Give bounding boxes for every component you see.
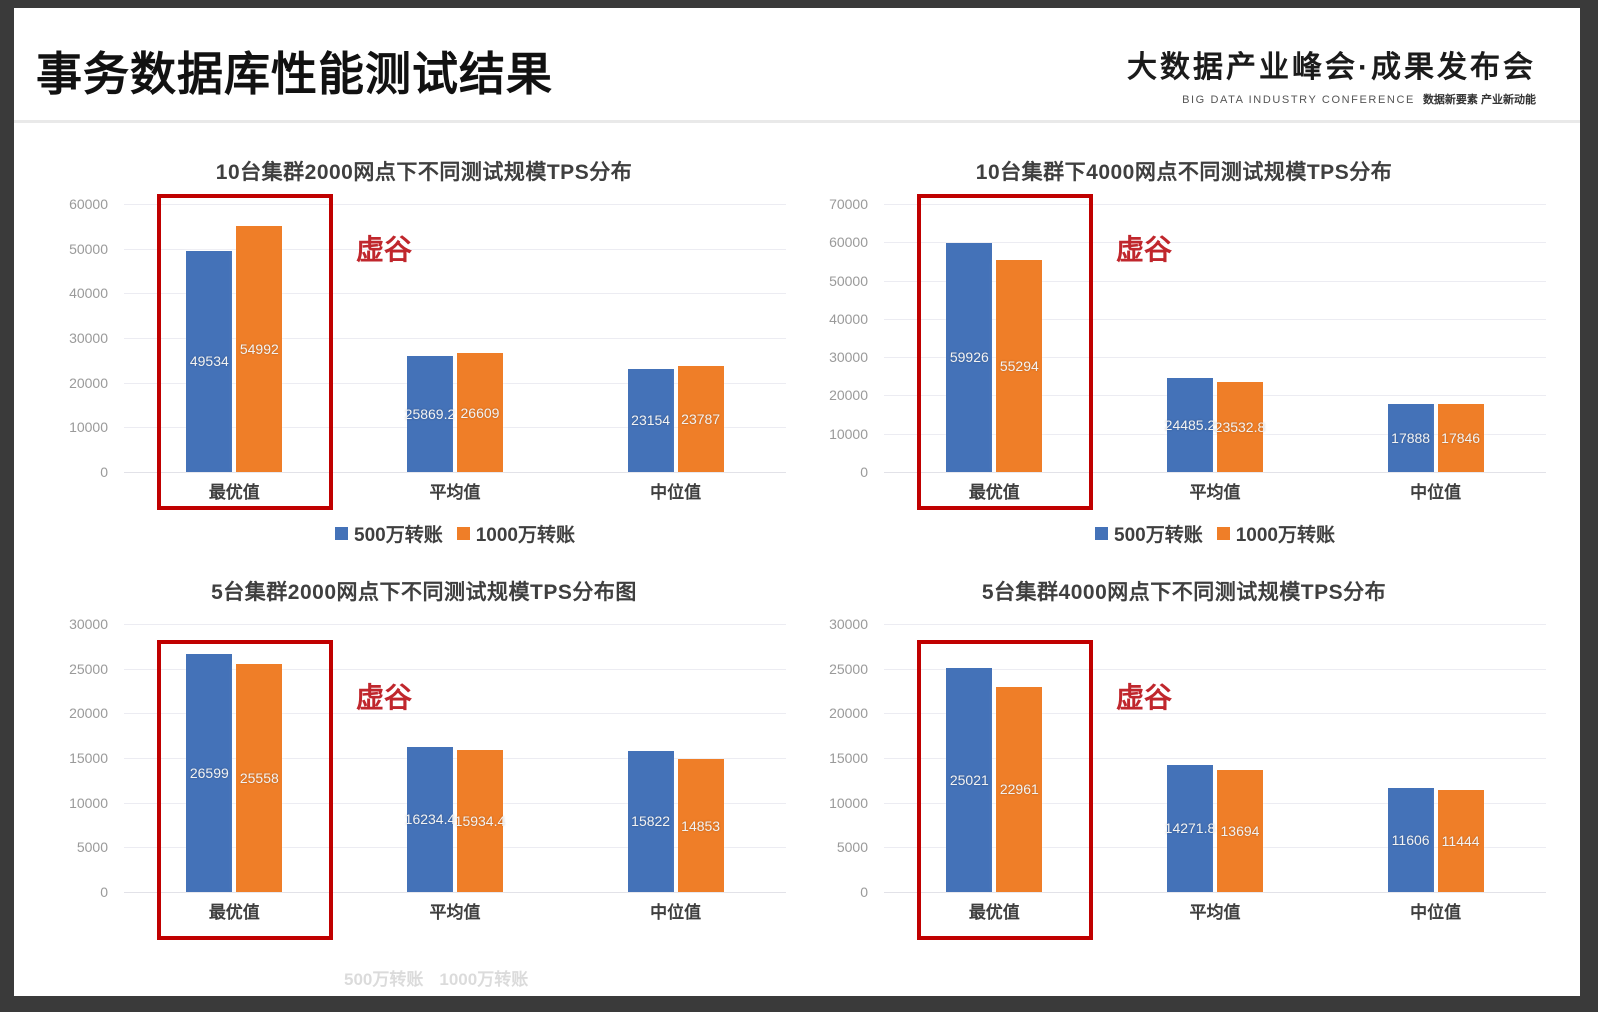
y-axis-tick: 25000	[829, 661, 868, 677]
conference-tagline: BIG DATA INDUSTRY CONFERENCE数据新要素 产业新动能	[1127, 91, 1536, 107]
x-axis-label: 平均值	[1106, 478, 1324, 503]
slide-header: 事务数据库性能测试结果 大数据产业峰会·成果发布会 BIG DATA INDUS…	[14, 8, 1580, 123]
bar-orange[interactable]: 15934.4	[457, 750, 503, 892]
y-axis: 300002500020000150001000050000	[804, 624, 876, 892]
chart-legend: 500万转账 1000万转账	[124, 520, 786, 547]
x-axis-label: 最优值	[885, 478, 1103, 503]
legend-label-orange: 1000万转账	[476, 520, 575, 547]
y-axis-tick: 30000	[69, 330, 108, 346]
chart-5node-2000: 5台集群2000网点下不同测试规模TPS分布图 3000025000200001…	[44, 570, 804, 990]
legend-label-orange: 1000万转账	[1236, 520, 1335, 547]
bar-orange[interactable]: 22961	[996, 687, 1042, 892]
bar-group: 2315423787	[566, 204, 784, 472]
bar-value-label: 23154	[631, 412, 670, 428]
plot-area: 300002500020000150001000050000 265992555…	[44, 624, 804, 924]
chart-title: 10台集群下4000网点不同测试规模TPS分布	[804, 156, 1564, 186]
conference-tagline-en: BIG DATA INDUSTRY CONFERENCE	[1182, 94, 1415, 106]
x-axis-label: 最优值	[125, 898, 343, 923]
y-axis-tick: 20000	[829, 387, 868, 403]
legend-label-blue: 500万转账	[354, 520, 443, 547]
legend-item-orange: 1000万转账	[457, 520, 575, 547]
y-axis-tick: 30000	[829, 616, 868, 632]
bar-value-label: 54992	[240, 341, 279, 357]
y-axis-tick: 40000	[69, 285, 108, 301]
bar-groups: 265992555816234.415934.41582214853	[124, 624, 786, 892]
annotation-label: 虚谷	[356, 228, 412, 268]
x-axis-label: 中位值	[1326, 898, 1544, 923]
y-axis-tick: 30000	[69, 616, 108, 632]
bar-value-label: 25558	[240, 770, 279, 786]
y-axis-tick: 50000	[829, 273, 868, 289]
y-axis-tick: 0	[860, 884, 868, 900]
bar-value-label: 26599	[190, 765, 229, 781]
y-axis-tick: 60000	[69, 196, 108, 212]
bar-blue[interactable]: 25021	[946, 668, 992, 892]
y-axis-tick: 60000	[829, 234, 868, 250]
bar-value-label: 15822	[631, 813, 670, 829]
y-axis-tick: 10000	[829, 795, 868, 811]
bar-blue[interactable]: 59926	[946, 243, 992, 472]
x-axis-label: 平均值	[1106, 898, 1324, 923]
annotation-label: 虚谷	[1116, 676, 1172, 716]
x-axis-label: 最优值	[885, 898, 1103, 923]
x-axis-categories: 最优值平均值中位值	[884, 478, 1546, 503]
annotation-label: 虚谷	[356, 676, 412, 716]
plot-area: 300002500020000150001000050000 250212296…	[804, 624, 1564, 924]
bar-blue[interactable]: 15822	[628, 751, 674, 892]
bar-value-label: 23787	[681, 411, 720, 427]
conference-tagline-cn: 数据新要素 产业新动能	[1423, 94, 1536, 106]
chart-legend: 500万转账 1000万转账	[884, 520, 1546, 547]
bar-value-label: 25021	[950, 772, 989, 788]
bar-blue[interactable]: 14271.8	[1167, 765, 1213, 892]
y-axis-tick: 20000	[829, 705, 868, 721]
bar-value-label: 59926	[950, 349, 989, 365]
bar-blue[interactable]: 26599	[186, 654, 232, 892]
x-axis-label: 最优值	[125, 478, 343, 503]
gridline	[884, 892, 1546, 893]
bar-value-label: 11606	[1392, 832, 1430, 848]
bar-orange[interactable]: 23532.8	[1217, 382, 1263, 472]
x-axis-categories: 最优值平均值中位值	[124, 898, 786, 923]
y-axis-tick: 50000	[69, 241, 108, 257]
y-axis-tick: 5000	[837, 839, 868, 855]
plot-area: 6000050000400003000020000100000 49534549…	[44, 204, 804, 504]
y-axis-tick: 10000	[829, 426, 868, 442]
bar-orange[interactable]: 17846	[1438, 404, 1484, 472]
bar-group: 16234.415934.4	[346, 624, 564, 892]
conference-name: 大数据产业峰会·成果发布会	[1127, 42, 1536, 86]
bar-value-label: 55294	[1000, 358, 1039, 374]
y-axis-tick: 0	[100, 464, 108, 480]
legend-label-blue: 500万转账	[1114, 520, 1203, 547]
annotation-label: 虚谷	[1116, 228, 1172, 268]
bar-blue[interactable]: 25869.2	[407, 356, 453, 472]
legend-swatch-orange-icon	[457, 527, 470, 540]
page-title: 事务数据库性能测试结果	[36, 38, 553, 104]
bar-value-label: 26609	[461, 405, 500, 421]
legend-swatch-blue-icon	[335, 527, 348, 540]
bar-value-label: 17888	[1391, 430, 1430, 446]
bar-value-label: 14853	[681, 818, 720, 834]
x-axis-label: 平均值	[346, 478, 564, 503]
bar-orange[interactable]: 26609	[457, 353, 503, 472]
x-axis-categories: 最优值平均值中位值	[884, 898, 1546, 923]
y-axis-tick: 40000	[829, 311, 868, 327]
bar-orange[interactable]: 25558	[236, 664, 282, 892]
bar-orange[interactable]: 23787	[678, 366, 724, 472]
bar-blue[interactable]: 23154	[628, 369, 674, 472]
bar-blue[interactable]: 16234.4	[407, 747, 453, 892]
bar-value-label: 22961	[1000, 781, 1039, 797]
bar-value-label: 23532.8	[1215, 419, 1266, 435]
bar-groups: 495345499225869.2266092315423787	[124, 204, 786, 472]
bar-group: 1582214853	[566, 624, 784, 892]
x-axis-label: 平均值	[346, 898, 564, 923]
cutoff-legend-label-orange: 1000万转账	[439, 965, 528, 990]
bar-groups: 250212296114271.8136941160611444	[884, 624, 1546, 892]
bar-value-label: 11444	[1442, 833, 1480, 849]
legend-item-blue: 500万转账	[335, 520, 443, 547]
x-axis-label: 中位值	[566, 898, 784, 923]
bar-value-label: 25869.2	[405, 406, 456, 422]
plot-area: 700006000050000400003000020000100000 599…	[804, 204, 1564, 504]
bar-group: 1788817846	[1326, 204, 1544, 472]
bar-value-label: 15934.4	[455, 813, 506, 829]
bar-group: 4953454992	[125, 204, 343, 472]
legend-item-orange: 1000万转账	[1217, 520, 1335, 547]
y-axis-tick: 5000	[77, 839, 108, 855]
y-axis-tick: 20000	[69, 375, 108, 391]
y-axis: 700006000050000400003000020000100000	[804, 204, 876, 472]
y-axis-tick: 70000	[829, 196, 868, 212]
chart-10node-2000: 10台集群2000网点下不同测试规模TPS分布 6000050000400003…	[44, 150, 804, 570]
bar-blue[interactable]: 11606	[1388, 788, 1434, 892]
bar-group: 14271.813694	[1106, 624, 1324, 892]
bar-group: 2502122961	[885, 624, 1103, 892]
chart-title: 10台集群2000网点下不同测试规模TPS分布	[44, 156, 804, 186]
chart-10node-4000: 10台集群下4000网点不同测试规模TPS分布 7000060000500004…	[804, 150, 1564, 570]
gridline	[884, 472, 1546, 473]
gridline	[124, 892, 786, 893]
y-axis-tick: 10000	[69, 795, 108, 811]
legend-swatch-blue-icon	[1095, 527, 1108, 540]
x-axis-categories: 最优值平均值中位值	[124, 478, 786, 503]
bar-value-label: 16234.4	[405, 811, 456, 827]
bar-orange[interactable]: 14853	[678, 759, 724, 892]
y-axis: 300002500020000150001000050000	[44, 624, 116, 892]
chart-title: 5台集群4000网点下不同测试规模TPS分布	[804, 576, 1564, 606]
y-axis-tick: 10000	[69, 419, 108, 435]
bar-orange[interactable]: 54992	[236, 226, 282, 472]
bar-groups: 599265529424485.223532.81788817846	[884, 204, 1546, 472]
bar-blue[interactable]: 49534	[186, 251, 232, 472]
x-axis-label: 中位值	[566, 478, 784, 503]
chart-title: 5台集群2000网点下不同测试规模TPS分布图	[44, 576, 804, 606]
bar-value-label: 14271.8	[1165, 820, 1216, 836]
y-axis-tick: 15000	[69, 750, 108, 766]
y-axis-tick: 25000	[69, 661, 108, 677]
y-axis-tick: 0	[860, 464, 868, 480]
bar-blue[interactable]: 17888	[1388, 404, 1434, 472]
y-axis-tick: 30000	[829, 349, 868, 365]
bar-value-label: 24485.2	[1165, 417, 1216, 433]
legend-item-blue: 500万转账	[1095, 520, 1203, 547]
y-axis-tick: 0	[100, 884, 108, 900]
bar-orange[interactable]: 11444	[1438, 790, 1484, 892]
bar-orange[interactable]: 55294	[996, 260, 1042, 472]
bar-group: 2659925558	[125, 624, 343, 892]
cutoff-legend-label-blue: 500万转账	[344, 965, 423, 990]
y-axis-tick: 15000	[829, 750, 868, 766]
bar-blue[interactable]: 24485.2	[1167, 378, 1213, 472]
bar-value-label: 13694	[1221, 823, 1260, 839]
bar-value-label: 49534	[190, 353, 229, 369]
y-axis: 6000050000400003000020000100000	[44, 204, 116, 472]
y-axis-tick: 20000	[69, 705, 108, 721]
x-axis-label: 中位值	[1326, 478, 1544, 503]
bar-orange[interactable]: 13694	[1217, 770, 1263, 892]
slide: 事务数据库性能测试结果 大数据产业峰会·成果发布会 BIG DATA INDUS…	[14, 8, 1580, 996]
bar-value-label: 17846	[1441, 430, 1480, 446]
conference-logo: 大数据产业峰会·成果发布会 BIG DATA INDUSTRY CONFEREN…	[1127, 42, 1536, 107]
chart-5node-4000: 5台集群4000网点下不同测试规模TPS分布 30000250002000015…	[804, 570, 1564, 990]
cutoff-legend: 500万转账 1000万转账	[344, 965, 528, 990]
charts-grid: 10台集群2000网点下不同测试规模TPS分布 6000050000400003…	[14, 120, 1580, 996]
gridline	[124, 472, 786, 473]
bar-group: 1160611444	[1326, 624, 1544, 892]
legend-swatch-orange-icon	[1217, 527, 1230, 540]
bar-group: 5992655294	[885, 204, 1103, 472]
